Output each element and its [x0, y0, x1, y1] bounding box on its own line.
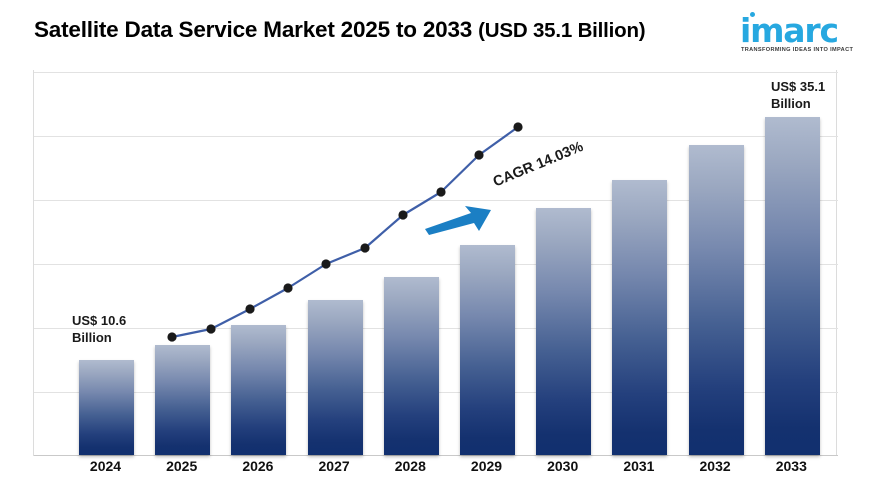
x-axis-label-2029: 2029 — [449, 458, 524, 474]
data-point-2031[interactable] — [436, 187, 445, 196]
axis-baseline — [34, 455, 838, 456]
bar-2030[interactable] — [536, 208, 591, 455]
bar-2032[interactable] — [689, 145, 744, 455]
bar-2026[interactable] — [231, 325, 286, 455]
data-point-2033[interactable] — [513, 122, 522, 131]
title-main: Satellite Data Service Market 2025 to 20… — [34, 17, 478, 42]
data-point-2026[interactable] — [245, 304, 254, 313]
data-point-2024[interactable] — [167, 332, 176, 341]
data-point-2032[interactable] — [474, 150, 483, 159]
data-point-2030[interactable] — [398, 210, 407, 219]
title-parenthetical: (USD 35.1 Billion) — [478, 19, 645, 42]
x-axis-label-2033: 2033 — [754, 458, 829, 474]
gridline — [34, 136, 838, 137]
logo-tagline: TRANSFORMING IDEAS INTO IMPACT — [741, 47, 853, 53]
cagr-label: CAGR 14.03% — [491, 139, 586, 190]
cagr-arrow-icon — [423, 202, 493, 236]
x-axis-label-2032: 2032 — [678, 458, 753, 474]
x-axis: 2024202520262027202820292030203120322033 — [33, 458, 837, 484]
bar-2028[interactable] — [384, 277, 439, 455]
data-point-2029[interactable] — [360, 243, 369, 252]
bar-2029[interactable] — [460, 245, 515, 455]
x-axis-label-2031: 2031 — [601, 458, 676, 474]
plot-area: US$ 10.6 Billion US$ 35.1 Billion CAGR 1… — [33, 70, 837, 456]
page-title: Satellite Data Service Market 2025 to 20… — [34, 17, 645, 43]
gridline — [34, 72, 838, 73]
x-axis-label-2024: 2024 — [68, 458, 143, 474]
logo-wordmark: imarc — [740, 14, 838, 47]
x-axis-label-2027: 2027 — [297, 458, 372, 474]
bar-2033[interactable] — [765, 117, 820, 455]
x-axis-label-2025: 2025 — [144, 458, 219, 474]
bar-2024[interactable] — [79, 360, 134, 455]
bar-2027[interactable] — [308, 300, 363, 455]
end-value-label: US$ 35.1 Billion — [771, 78, 825, 112]
chart-header: Satellite Data Service Market 2025 to 20… — [0, 0, 870, 62]
x-axis-label-2028: 2028 — [373, 458, 448, 474]
x-axis-label-2030: 2030 — [525, 458, 600, 474]
imarc-logo: imarc TRANSFORMING IDEAS INTO IMPACT — [740, 10, 862, 54]
data-point-2027[interactable] — [283, 283, 292, 292]
chart-page: Satellite Data Service Market 2025 to 20… — [0, 0, 870, 489]
bar-2031[interactable] — [612, 180, 667, 455]
data-point-2025[interactable] — [206, 324, 215, 333]
bar-2025[interactable] — [155, 345, 210, 455]
x-axis-label-2026: 2026 — [220, 458, 295, 474]
start-value-label: US$ 10.6 Billion — [72, 312, 126, 346]
